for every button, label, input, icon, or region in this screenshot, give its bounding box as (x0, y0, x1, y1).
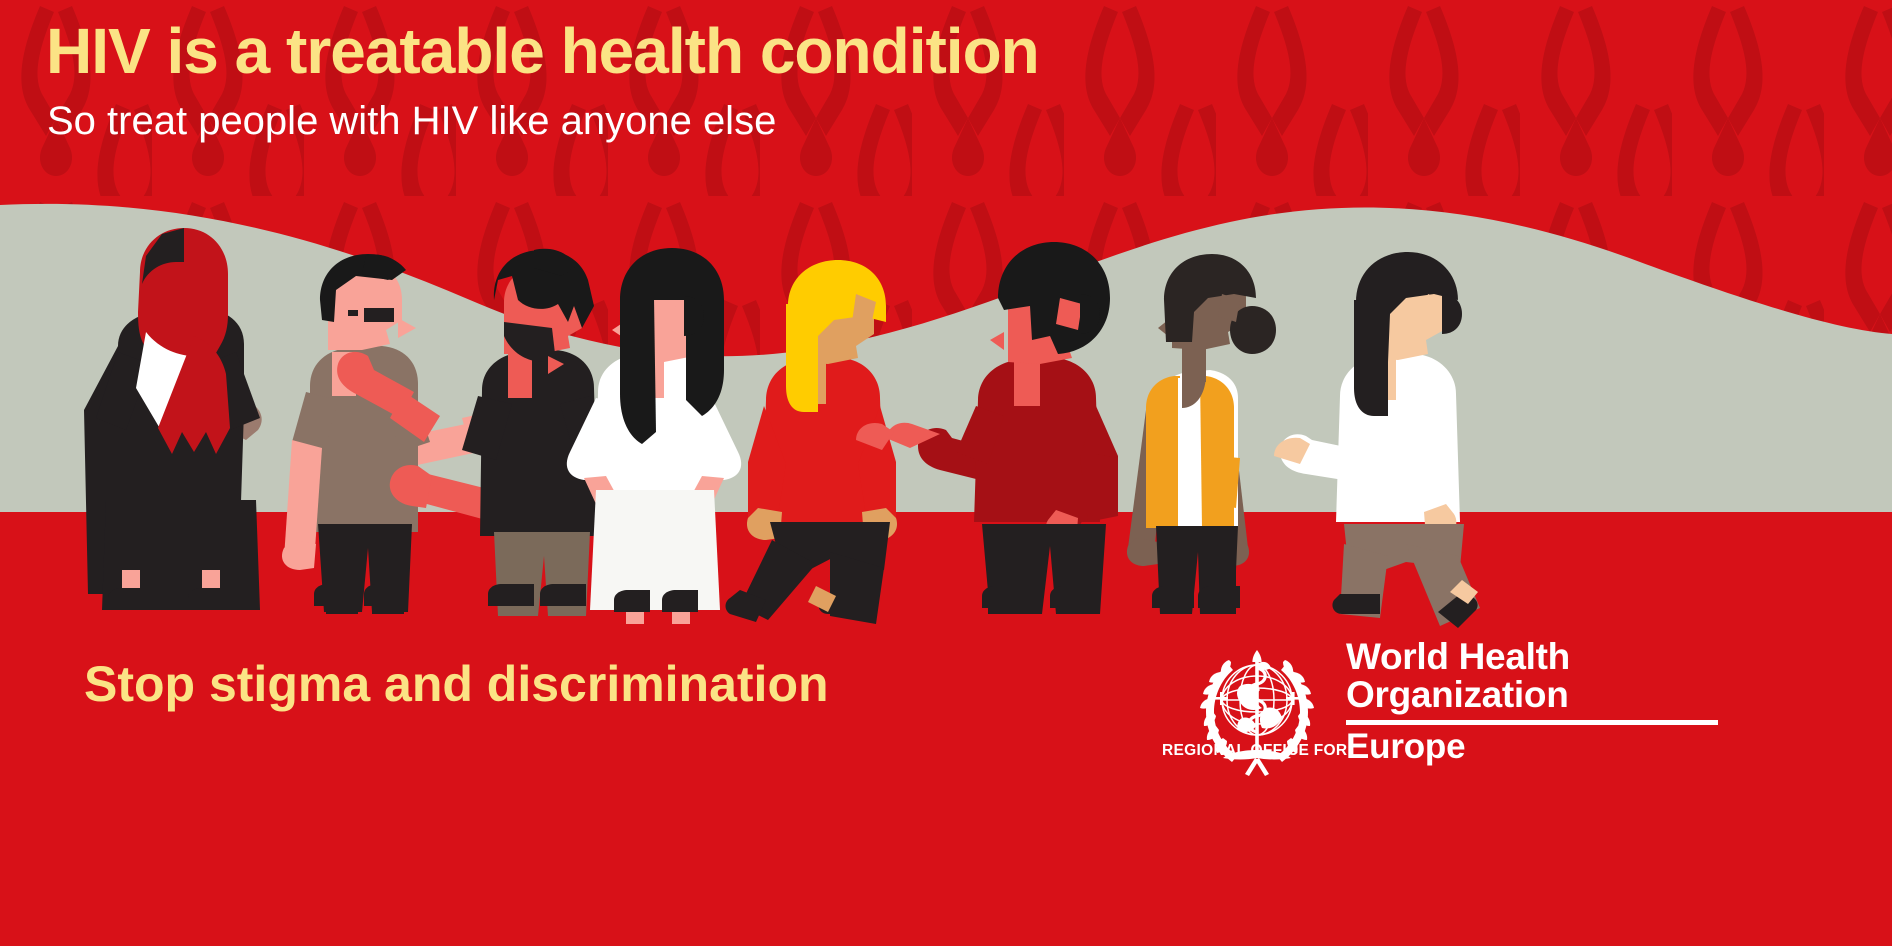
who-name-line-1: World Health (1346, 638, 1718, 676)
poster-tagline: Stop stigma and discrimination (84, 655, 829, 713)
who-emblem-icon (1182, 634, 1332, 784)
figure-man-in-taupe-tshirt (282, 254, 488, 614)
figure-person-with-afro-in-dark-red-sweater (856, 242, 1118, 614)
poster-headline: HIV is a treatable health condition (46, 18, 1039, 85)
who-logo-text: World Health Organization REGIONAL OFFIC… (1346, 634, 1718, 764)
who-europe-logo: World Health Organization REGIONAL OFFIC… (1182, 634, 1882, 794)
who-divider-rule (1346, 720, 1718, 725)
poster-subheadline: So treat people with HIV like anyone els… (47, 98, 776, 144)
figure-woman-in-white-sweater (1274, 252, 1480, 628)
who-name-line-2: Organization (1346, 676, 1718, 714)
who-regional-office-label: REGIONAL OFFICE FOR (1162, 742, 1347, 760)
who-emblem-icon-wrap (1182, 634, 1332, 784)
who-region-row: REGIONAL OFFICE FOR Europe (1346, 729, 1718, 764)
hiv-awareness-poster: HIV is a treatable health condition So t… (0, 0, 1892, 946)
figure-woman-in-hijab (84, 228, 262, 610)
figure-person-in-orange-jacket (1127, 254, 1276, 614)
who-region-name: Europe (1346, 729, 1465, 764)
